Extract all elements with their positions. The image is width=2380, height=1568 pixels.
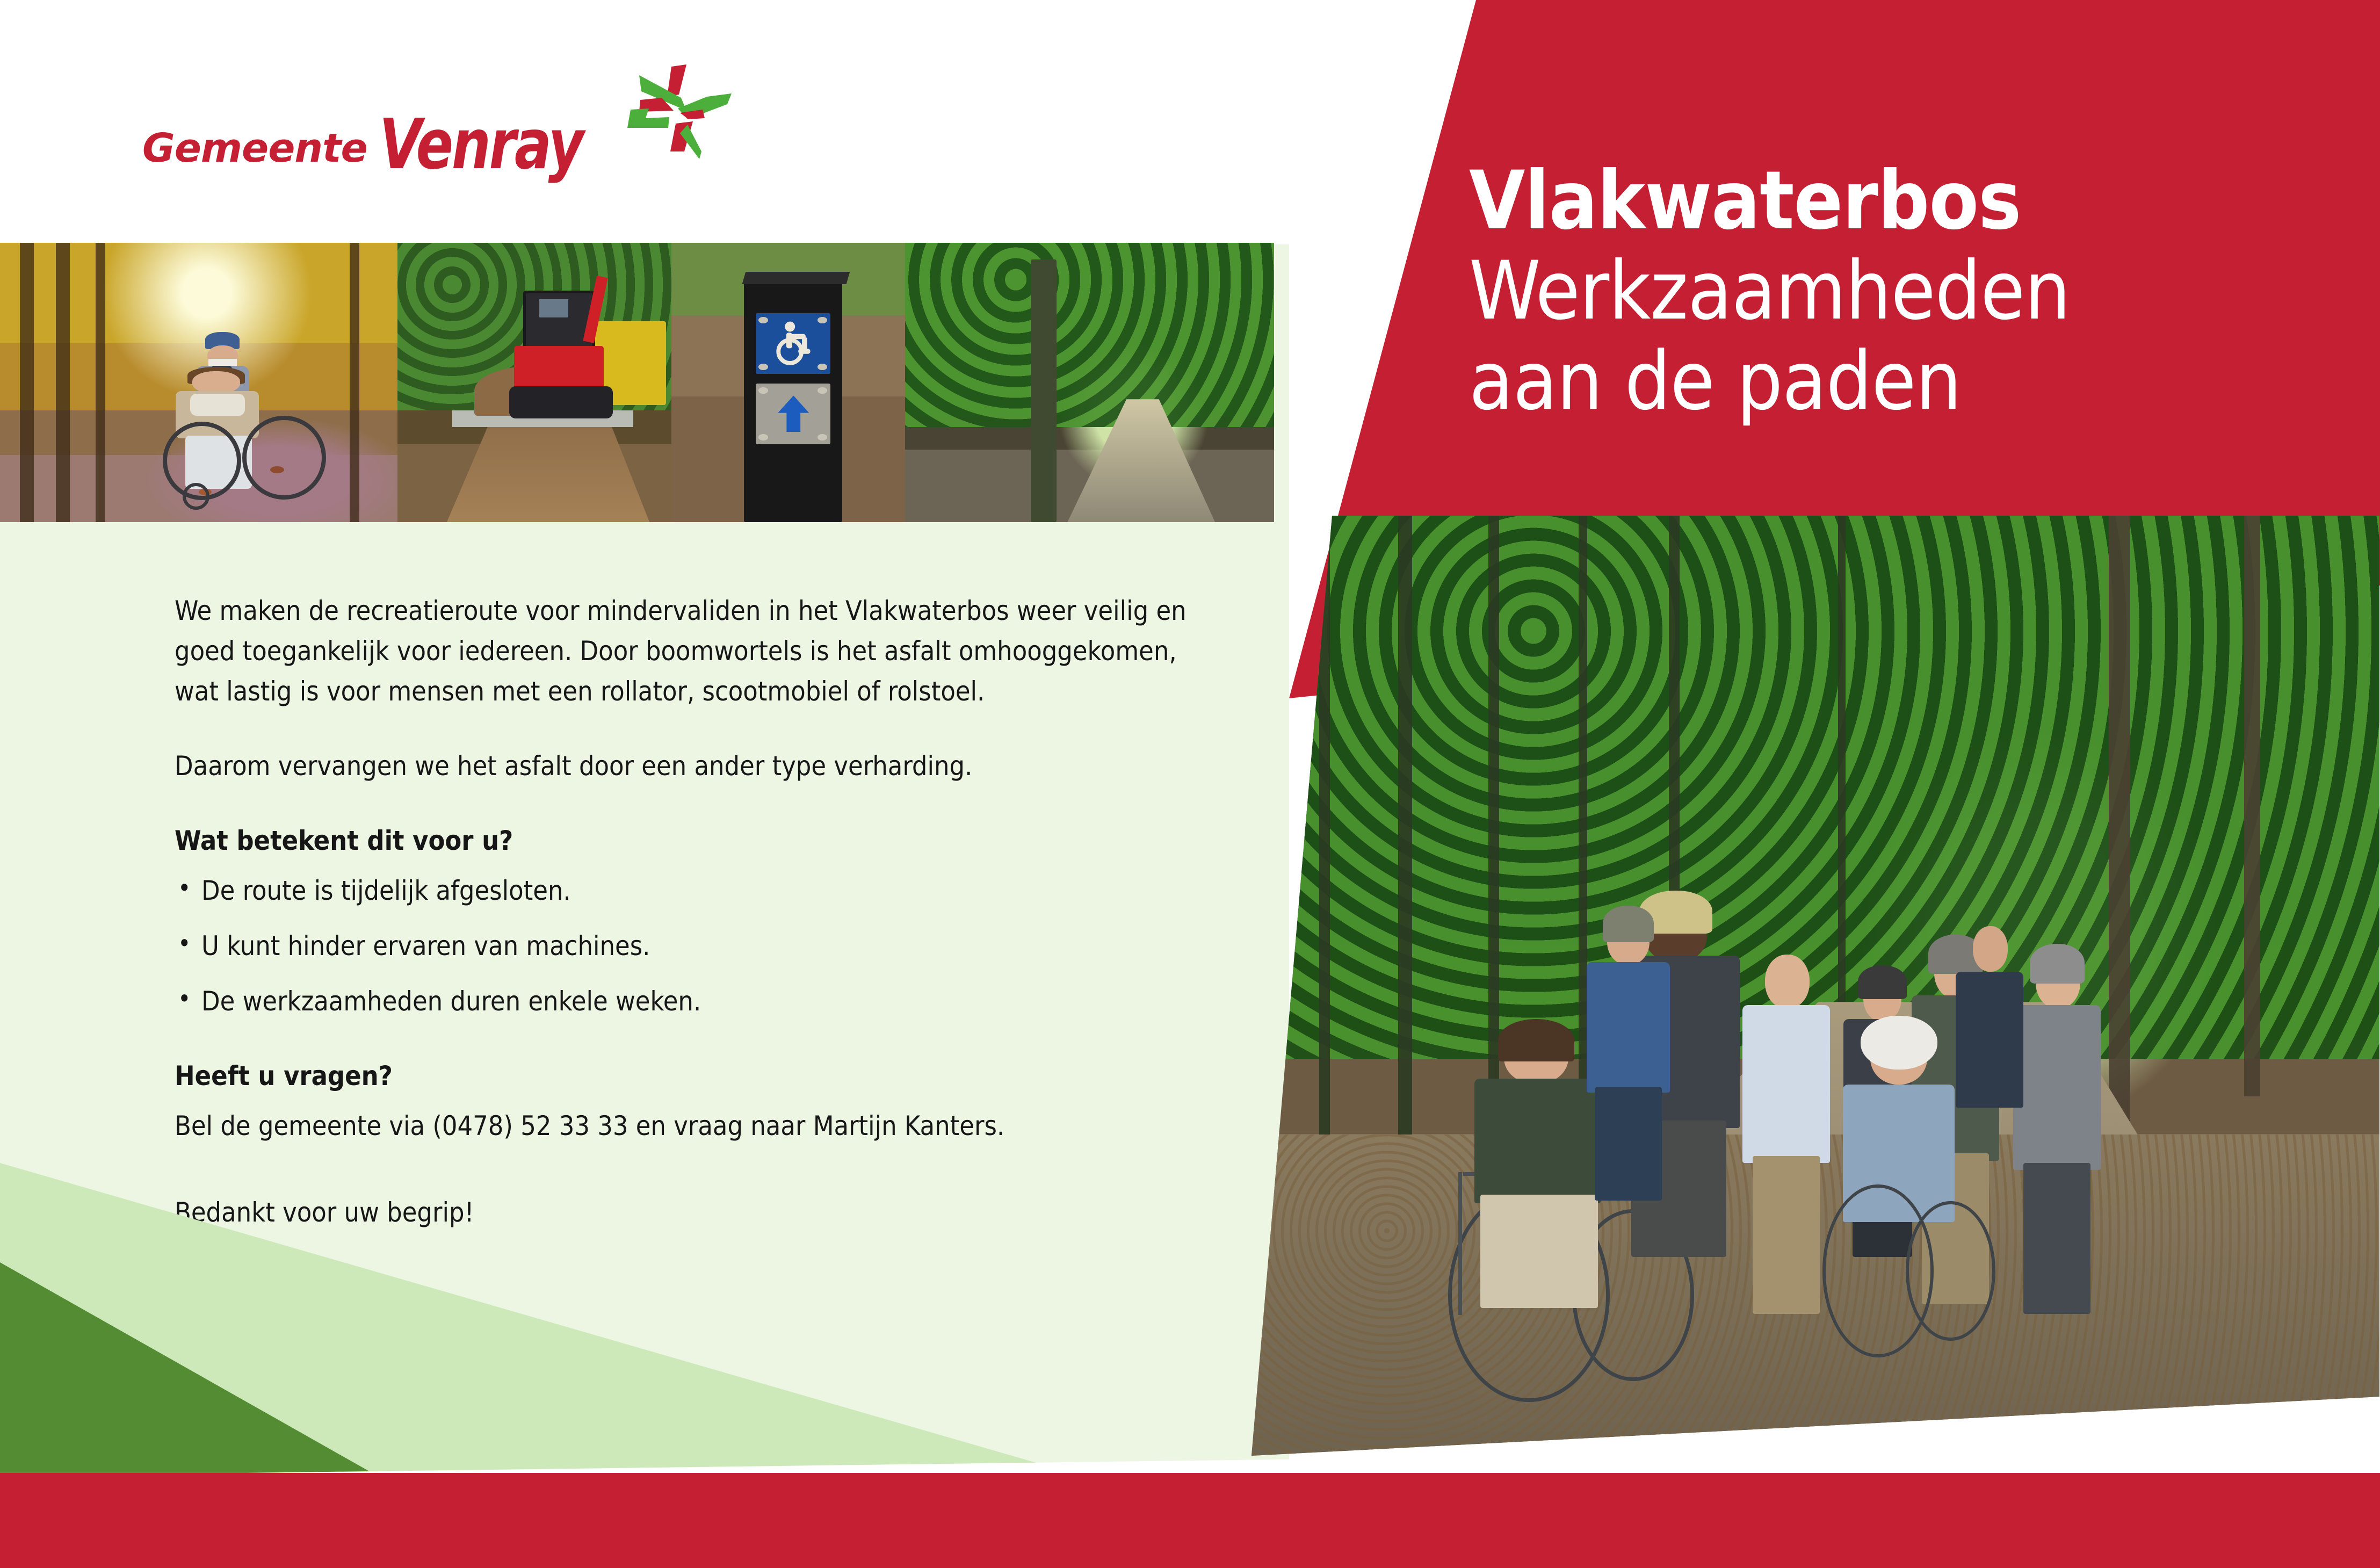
logo-word-venray: Venray bbox=[379, 115, 582, 175]
body-copy: We maken de recreatieroute voor minderva… bbox=[175, 591, 1222, 1267]
list-item: U kunt hinder ervaren van machines. bbox=[175, 926, 1222, 966]
beech-lane-path-photo bbox=[905, 243, 1274, 522]
direction-arrow-plate bbox=[756, 384, 830, 444]
title-line-3: aan de paden bbox=[1469, 336, 2328, 427]
walker-6 bbox=[1951, 926, 2030, 1153]
excavator-machine bbox=[507, 282, 622, 427]
list-item: De werkzaamheden duren enkele weken. bbox=[175, 981, 1222, 1022]
route-marker-post bbox=[744, 279, 842, 522]
group-walk-wheelchair-forest-photo bbox=[1252, 510, 2379, 1456]
heading-questions: Heeft u vragen? bbox=[175, 1056, 1222, 1096]
wheelchair-route-signpost-photo bbox=[671, 243, 905, 522]
heading-what-it-means: Wat betekent dit voor u? bbox=[175, 821, 1222, 861]
poster-title: Vlakwaterbos Werkzaamheden aan de paden bbox=[1469, 156, 2328, 427]
autumn-forest-wheelchair-photo bbox=[0, 243, 397, 522]
photo-strip bbox=[0, 243, 1274, 522]
excavator-path-works-photo bbox=[397, 243, 671, 522]
title-line-1: Vlakwaterbos bbox=[1469, 156, 2328, 246]
list-item: De route is tijdelijk afgesloten. bbox=[175, 871, 1222, 911]
impact-list: De route is tijdelijk afgesloten. U kunt… bbox=[175, 871, 1222, 1022]
venray-star-icon bbox=[618, 59, 741, 172]
paragraph-intro: We maken de recreatieroute voor minderva… bbox=[175, 591, 1222, 712]
wheelchair-sign-plate bbox=[756, 313, 830, 374]
paragraph-solution: Daarom vervangen we het asfalt door een … bbox=[175, 746, 1222, 786]
title-line-2: Werkzaamheden bbox=[1469, 246, 2328, 336]
second-wheelchair bbox=[1815, 1172, 1996, 1380]
gemeente-venray-logo: Gemeente Venray bbox=[142, 115, 633, 175]
arrow-up-icon bbox=[772, 389, 815, 438]
poster-canvas: Gemeente Venray bbox=[0, 0, 2380, 1568]
contact-line: Bel de gemeente via (0478) 52 33 33 en v… bbox=[175, 1106, 1222, 1146]
bottom-red-bar bbox=[0, 1473, 2380, 1568]
copy-spacer bbox=[175, 1181, 1222, 1193]
closing-line: Bedankt voor uw begrip! bbox=[175, 1193, 1222, 1233]
logo-word-gemeente: Gemeente bbox=[142, 128, 367, 175]
walker-1 bbox=[1579, 917, 1680, 1201]
wheelchair-accessibility-icon bbox=[768, 320, 820, 366]
